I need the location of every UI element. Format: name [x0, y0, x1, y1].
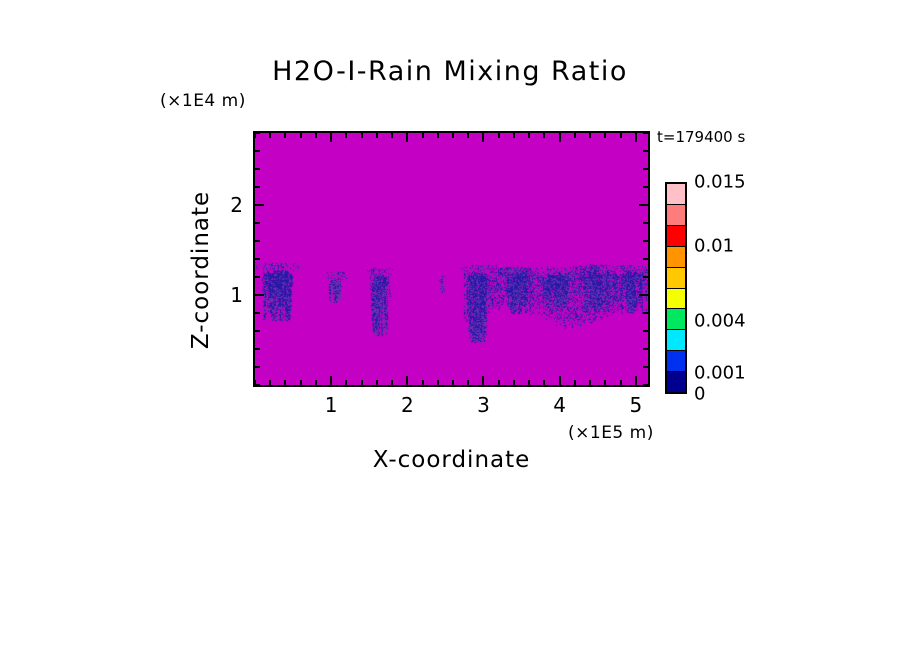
y-tick-right	[639, 204, 648, 206]
y-tick-right	[643, 348, 648, 350]
y-tick-right	[643, 150, 648, 152]
y-tick-left	[255, 384, 260, 386]
y-tick-right	[643, 132, 648, 134]
x-tick-label: 5	[629, 393, 642, 417]
y-tick-right	[643, 222, 648, 224]
x-tick-bottom	[361, 380, 363, 385]
x-tick-label: 3	[477, 393, 490, 417]
x-tick-bottom	[620, 380, 622, 385]
x-tick-bottom	[467, 380, 469, 385]
x-tick-bottom	[513, 380, 515, 385]
x-tick-bottom	[437, 380, 439, 385]
x-tick-bottom	[330, 376, 332, 385]
x-tick-top	[635, 133, 637, 142]
y-tick-right	[639, 294, 648, 296]
colorbar-tick-label: 0.01	[694, 235, 734, 256]
x-tick-top	[528, 133, 530, 138]
x-tick-top	[559, 133, 561, 142]
y-tick-left	[255, 150, 260, 152]
x-tick-bottom	[406, 376, 408, 385]
colorbar-band-9	[667, 372, 685, 392]
x-tick-top	[315, 133, 317, 138]
y-tick-left	[255, 186, 260, 188]
y-tick-right	[643, 276, 648, 278]
y-tick-left	[255, 240, 260, 242]
y-tick-right	[643, 186, 648, 188]
x-tick-bottom	[269, 380, 271, 385]
x-tick-bottom	[498, 380, 500, 385]
colorbar-band-8	[667, 351, 685, 372]
y-tick-right	[643, 330, 648, 332]
colorbar-band-1	[667, 205, 685, 226]
colorbar-band-5	[667, 289, 685, 310]
x-tick-top	[467, 133, 469, 138]
x-tick-top	[589, 133, 591, 138]
y-tick-left	[255, 348, 260, 350]
x-tick-top	[376, 133, 378, 138]
x-tick-top	[574, 133, 576, 138]
x-tick-top	[422, 133, 424, 138]
heatmap-field-canvas	[255, 133, 648, 385]
x-tick-top	[543, 133, 545, 138]
y-tick-left	[255, 276, 260, 278]
time-stamp-label: t=179400 s	[657, 128, 745, 146]
x-tick-bottom	[635, 376, 637, 385]
y-tick-left	[255, 312, 260, 314]
x-tick-top	[406, 133, 408, 142]
y-tick-label: 1	[213, 283, 243, 307]
colorbar	[665, 182, 687, 394]
y-tick-left	[255, 366, 260, 368]
y-tick-left	[255, 258, 260, 260]
y-tick-right	[643, 258, 648, 260]
x-tick-bottom	[315, 380, 317, 385]
y-axis-title: Z-coordinate	[186, 170, 216, 370]
y-tick-left	[255, 330, 260, 332]
x-tick-bottom	[422, 380, 424, 385]
x-tick-bottom	[376, 380, 378, 385]
x-tick-label: 1	[325, 393, 338, 417]
y-tick-right	[643, 168, 648, 170]
colorbar-tick-label: 0.001	[694, 362, 746, 383]
x-tick-label: 4	[553, 393, 566, 417]
x-tick-bottom	[604, 380, 606, 385]
colorbar-band-6	[667, 309, 685, 330]
y-tick-left	[255, 204, 264, 206]
y-tick-left	[255, 294, 264, 296]
y-tick-right	[643, 384, 648, 386]
x-axis-title: X-coordinate	[253, 447, 650, 473]
colorbar-tick-label: 0	[694, 384, 705, 405]
colorbar-band-7	[667, 330, 685, 351]
y-tick-left	[255, 132, 260, 134]
x-tick-label: 2	[401, 393, 414, 417]
x-tick-top	[452, 133, 454, 138]
x-tick-bottom	[482, 376, 484, 385]
x-tick-top	[498, 133, 500, 138]
x-tick-bottom	[452, 380, 454, 385]
x-tick-top	[437, 133, 439, 138]
x-tick-bottom	[300, 380, 302, 385]
x-tick-top	[620, 133, 622, 138]
colorbar-band-0	[667, 184, 685, 205]
x-tick-top	[345, 133, 347, 138]
x-tick-bottom	[528, 380, 530, 385]
x-tick-bottom	[574, 380, 576, 385]
colorbar-band-2	[667, 226, 685, 247]
y-tick-right	[643, 366, 648, 368]
x-tick-top	[300, 133, 302, 138]
y-axis-title-text: Z-coordinate	[188, 191, 214, 349]
y-tick-left	[255, 222, 260, 224]
x-tick-top	[361, 133, 363, 138]
x-tick-bottom	[284, 380, 286, 385]
x-tick-bottom	[543, 380, 545, 385]
colorbar-tick-label: 0.015	[694, 172, 746, 193]
colorbar-tick-label: 0.004	[694, 310, 746, 331]
y-tick-label: 2	[213, 193, 243, 217]
x-tick-bottom	[589, 380, 591, 385]
y-tick-right	[643, 240, 648, 242]
x-tick-top	[482, 133, 484, 142]
x-tick-top	[269, 133, 271, 138]
x-tick-top	[330, 133, 332, 142]
x-tick-top	[391, 133, 393, 138]
plot-area	[253, 131, 650, 387]
x-tick-top	[284, 133, 286, 138]
colorbar-band-4	[667, 268, 685, 289]
page-title: H2O-I-Rain Mixing Ratio	[0, 56, 902, 87]
x-tick-top	[604, 133, 606, 138]
colorbar-band-3	[667, 247, 685, 268]
x-tick-bottom	[559, 376, 561, 385]
x-axis-units-annotation: (×1E5 m)	[568, 423, 654, 443]
y-axis-units-annotation: (×1E4 m)	[160, 91, 246, 111]
y-tick-left	[255, 168, 260, 170]
y-tick-right	[643, 312, 648, 314]
x-tick-bottom	[345, 380, 347, 385]
x-tick-top	[513, 133, 515, 138]
x-tick-bottom	[391, 380, 393, 385]
